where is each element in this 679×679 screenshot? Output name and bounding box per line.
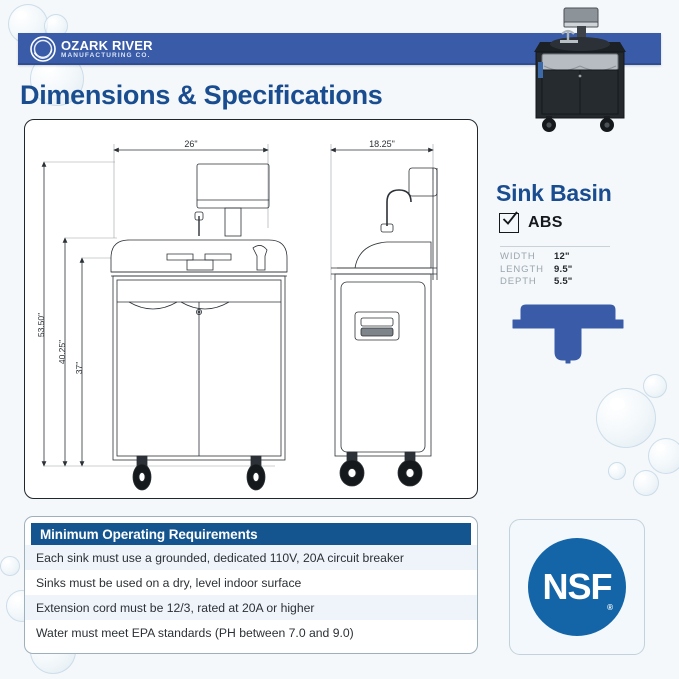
front-overall-height-dimension-label: 53.50" xyxy=(36,313,46,337)
abs-label: ABS xyxy=(528,214,563,232)
spec-value: 12" xyxy=(554,251,570,264)
front-lower-height-dimension-label: 37" xyxy=(74,362,84,374)
minimum-operating-requirements-card: Minimum Operating Requirements Each sink… xyxy=(24,516,478,654)
spec-key: WIDTH xyxy=(500,251,554,264)
bubble-decoration xyxy=(643,374,667,398)
nsf-label: NSF xyxy=(543,566,612,608)
table-row: WIDTH 12" xyxy=(500,251,630,264)
bubble-decoration xyxy=(633,470,659,496)
list-item: Extension cord must be 12/3, rated at 20… xyxy=(25,595,477,620)
front-width-dimension-label: 26" xyxy=(184,139,197,149)
requirements-header: Minimum Operating Requirements xyxy=(31,523,471,545)
spec-value: 9.5" xyxy=(554,264,573,277)
bubble-decoration xyxy=(0,556,20,576)
spec-key: DEPTH xyxy=(500,276,554,289)
product-photo xyxy=(522,6,670,134)
basin-spec-table: WIDTH 12" LENGTH 9.5" DEPTH 5.5" xyxy=(500,251,630,289)
dimension-drawing-card: 26" 53.50" 40.25" 37" xyxy=(24,119,478,499)
brand-logo: OZARK RIVER MANUFACTURING CO. xyxy=(30,35,153,63)
side-depth-dimension-label: 18.25" xyxy=(369,139,395,149)
bubble-decoration xyxy=(648,438,679,474)
registered-mark: ® xyxy=(607,603,613,612)
bubble-decoration xyxy=(596,388,656,448)
spec-key: LENGTH xyxy=(500,264,554,277)
basin-profile-diagram xyxy=(493,300,643,366)
requirements-list: Each sink must use a grounded, dedicated… xyxy=(25,545,477,645)
list-item: Water must meet EPA standards (PH betwee… xyxy=(25,620,477,645)
spec-divider xyxy=(500,246,610,247)
table-row: LENGTH 9.5" xyxy=(500,264,630,277)
list-item: Each sink must use a grounded, dedicated… xyxy=(25,545,477,570)
table-row: DEPTH 5.5" xyxy=(500,276,630,289)
abs-checkbox[interactable] xyxy=(499,213,519,233)
spec-sheet-page: OZARK RIVER MANUFACTURING CO. Dimensions… xyxy=(0,0,679,679)
sink-basin-title: Sink Basin xyxy=(496,180,612,207)
brand-name: OZARK RIVER xyxy=(61,39,153,52)
material-option-abs[interactable]: ABS xyxy=(499,213,563,233)
brand-tagline: MANUFACTURING CO. xyxy=(61,53,153,60)
dimension-drawing: 26" 53.50" 40.25" 37" xyxy=(25,120,477,498)
bubble-decoration xyxy=(608,462,626,480)
requirements-heading: Minimum Operating Requirements xyxy=(40,527,258,542)
ozark-river-swirl-logo-icon xyxy=(30,36,56,62)
page-title: Dimensions & Specifications xyxy=(20,80,383,111)
nsf-certification-card: NSF ® xyxy=(509,519,645,655)
front-counter-height-dimension-label: 40.25" xyxy=(57,340,67,364)
spec-value: 5.5" xyxy=(554,276,573,289)
nsf-logo-icon: NSF ® xyxy=(528,538,626,636)
check-icon xyxy=(501,210,519,228)
list-item: Sinks must be used on a dry, level indoo… xyxy=(25,570,477,595)
